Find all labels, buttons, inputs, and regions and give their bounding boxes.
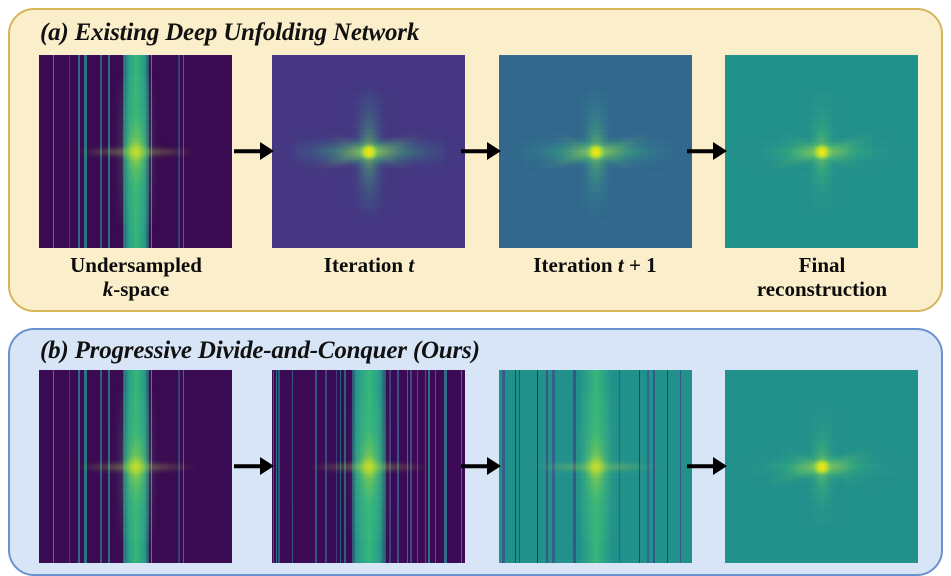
arrow-right-icon — [687, 142, 727, 160]
arrow-right-icon — [234, 142, 274, 160]
caption-math-t: t — [408, 253, 414, 277]
panel-b-frame-row — [10, 330, 941, 574]
dc-core — [587, 145, 604, 158]
caption-line-2: reconstruction — [757, 277, 887, 301]
arrow-right-icon — [687, 457, 727, 475]
dc-core — [813, 145, 830, 158]
caption-iteration-t-plus-1: Iteration t + 1 — [482, 254, 708, 278]
caption-math-k: k — [103, 277, 114, 301]
caption-final-reconstruction: Final reconstruction — [709, 254, 935, 301]
image-final-reconstruction-b — [725, 370, 918, 563]
caption-line-2: -space — [113, 277, 169, 301]
image-final-reconstruction-a — [725, 55, 918, 248]
kspace-dc-glow — [579, 392, 613, 542]
caption-undersampled-kspace: Undersampled k-space — [23, 254, 249, 301]
kspace-dc-glow — [119, 392, 153, 542]
arrow-right-icon — [461, 142, 501, 160]
kspace-dc-glow — [352, 392, 386, 542]
image-iteration-t — [272, 55, 465, 248]
image-partially-filled-kspace-stage-1 — [272, 370, 465, 563]
panel-progressive-divide-and-conquer: (b) Progressive Divide-and-Conquer (Ours… — [8, 328, 943, 576]
image-partially-filled-kspace-stage-2 — [499, 370, 692, 563]
kspace-dc-glow — [119, 77, 153, 227]
caption-line-1: Undersampled — [70, 253, 202, 277]
caption-line-1: Iteration — [324, 253, 409, 277]
dc-core — [360, 145, 377, 158]
caption-math-rest: + 1 — [624, 253, 657, 277]
kspace-dc-core — [128, 145, 144, 159]
panel-existing-deep-unfolding-network: (a) Existing Deep Unfolding Network — [8, 8, 943, 312]
dc-core — [813, 460, 830, 473]
caption-iteration-t: Iteration t — [256, 254, 482, 278]
image-iteration-t-plus-1 — [499, 55, 692, 248]
kspace-dc-core — [128, 460, 144, 474]
caption-line-1: Final — [799, 253, 846, 277]
arrow-right-icon — [461, 457, 501, 475]
image-undersampled-kspace-a — [39, 55, 232, 248]
kspace-dc-core — [588, 460, 604, 474]
kspace-dc-core — [361, 460, 377, 474]
image-undersampled-kspace-b — [39, 370, 232, 563]
arrow-right-icon — [234, 457, 274, 475]
caption-line-1: Iteration — [533, 253, 618, 277]
